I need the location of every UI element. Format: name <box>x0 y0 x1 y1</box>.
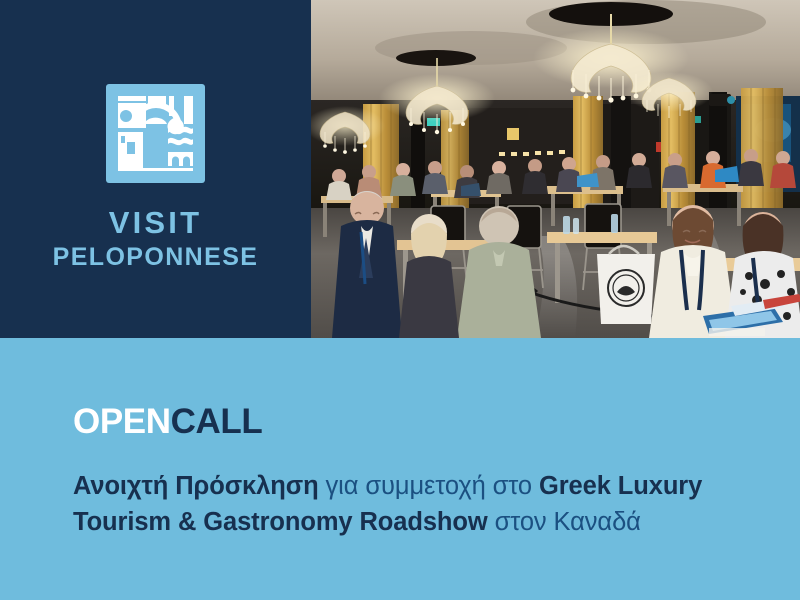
event-photograph <box>311 0 800 338</box>
subhead-light-participation: για συμμετοχή στο <box>319 472 539 500</box>
banquet-hall-scene <box>311 0 800 338</box>
peloponnese-arch-monument-icon <box>106 84 205 183</box>
title-word-call: CALL <box>171 402 263 441</box>
title-word-open: OPEN <box>73 402 171 441</box>
poster-bottom-band: OPENCALL Ανοιχτή Πρόσκληση για συμμετοχή… <box>0 338 800 600</box>
subhead-bold-roadshow: Tourism & Gastronomy Roadshow <box>73 508 488 536</box>
visit-peloponnese-logo: VISIT PELOPONNESE <box>0 84 311 270</box>
open-call-poster: VISIT PELOPONNESE <box>0 0 800 600</box>
subhead-light-canada: στον Καναδά <box>488 508 641 536</box>
brand-panel: VISIT PELOPONNESE <box>0 0 311 338</box>
subhead-bold-greek-luxury: Greek Luxury <box>539 472 702 500</box>
logo-word-visit: VISIT <box>109 207 203 238</box>
subheadline: Ανοιχτή Πρόσκληση για συμμετοχή στο Gree… <box>73 468 763 540</box>
poster-top-band: VISIT PELOPONNESE <box>0 0 800 338</box>
page-title-open-call: OPENCALL <box>73 404 262 439</box>
logo-word-peloponnese: PELOPONNESE <box>53 245 259 270</box>
subhead-bold-open-invitation: Ανοιχτή Πρόσκληση <box>73 472 319 500</box>
